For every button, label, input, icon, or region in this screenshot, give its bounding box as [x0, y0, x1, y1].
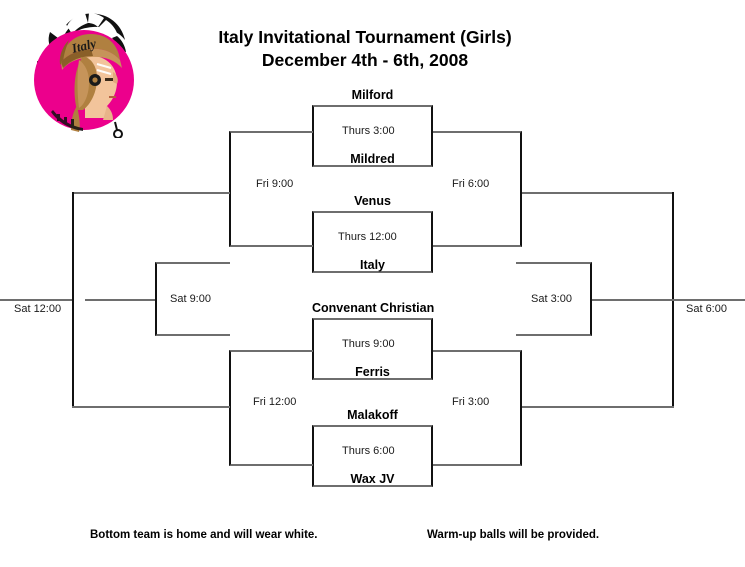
outer-right-bottom-line	[522, 406, 674, 408]
final-sat6-time: Sat 6:00	[686, 303, 727, 315]
round2-fri12-time: Fri 12:00	[253, 396, 296, 408]
round3-sat9-time: Sat 9:00	[170, 293, 211, 305]
round1-game1-time: Thurs 3:00	[342, 125, 395, 137]
round3-sat3-connector	[592, 299, 672, 301]
page-title: Italy Invitational Tournament (Girls) De…	[150, 26, 580, 72]
title-line-1: Italy Invitational Tournament (Girls)	[150, 26, 580, 49]
round1-game4-top-team: Malakoff	[312, 408, 433, 422]
outer-left-bottom-line	[72, 406, 230, 408]
round1-game4-bottom-team: Wax JV	[312, 472, 433, 486]
round1-game1-top-team: Milford	[312, 88, 433, 102]
footnote-left: Bottom team is home and will wear white.	[90, 529, 317, 541]
logo-svg: Italy	[27, 10, 139, 138]
round1-game1-bottom-team: Mildred	[312, 152, 433, 166]
final-left-line	[0, 299, 72, 301]
title-line-2: December 4th - 6th, 2008	[150, 49, 580, 72]
footnote-right: Warm-up balls will be provided.	[427, 529, 599, 541]
outer-right-top-line	[522, 192, 674, 194]
round2-fri3-bracket[interactable]	[433, 350, 522, 466]
round1-game3-bottom-team: Ferris	[312, 365, 433, 379]
round2-fri6-time: Fri 6:00	[452, 178, 489, 190]
round1-game4-time: Thurs 6:00	[342, 445, 395, 457]
outer-left-vertical	[72, 192, 74, 408]
round3-sat9-connector	[85, 299, 155, 301]
round2-fri12-bracket[interactable]	[229, 350, 313, 466]
round1-game2-top-team: Venus	[312, 194, 433, 208]
round1-game2-bottom-team: Italy	[312, 258, 433, 272]
round3-sat3-time: Sat 3:00	[531, 293, 572, 305]
round1-game2-time: Thurs 12:00	[338, 231, 397, 243]
round2-fri3-time: Fri 3:00	[452, 396, 489, 408]
final-right-line	[672, 299, 745, 301]
round1-game3-top-team: Convenant Christian	[312, 301, 433, 315]
logo-pendant	[114, 122, 122, 138]
outer-left-top-line	[72, 192, 230, 194]
final-sat12-time: Sat 12:00	[14, 303, 61, 315]
italy-gladiators-logo: Italy	[27, 10, 139, 138]
tournament-bracket-page: Italy Italy Invitational Tournament (Gir…	[0, 0, 745, 567]
round2-fri9-time: Fri 9:00	[256, 178, 293, 190]
round1-game3-time: Thurs 9:00	[342, 338, 395, 350]
